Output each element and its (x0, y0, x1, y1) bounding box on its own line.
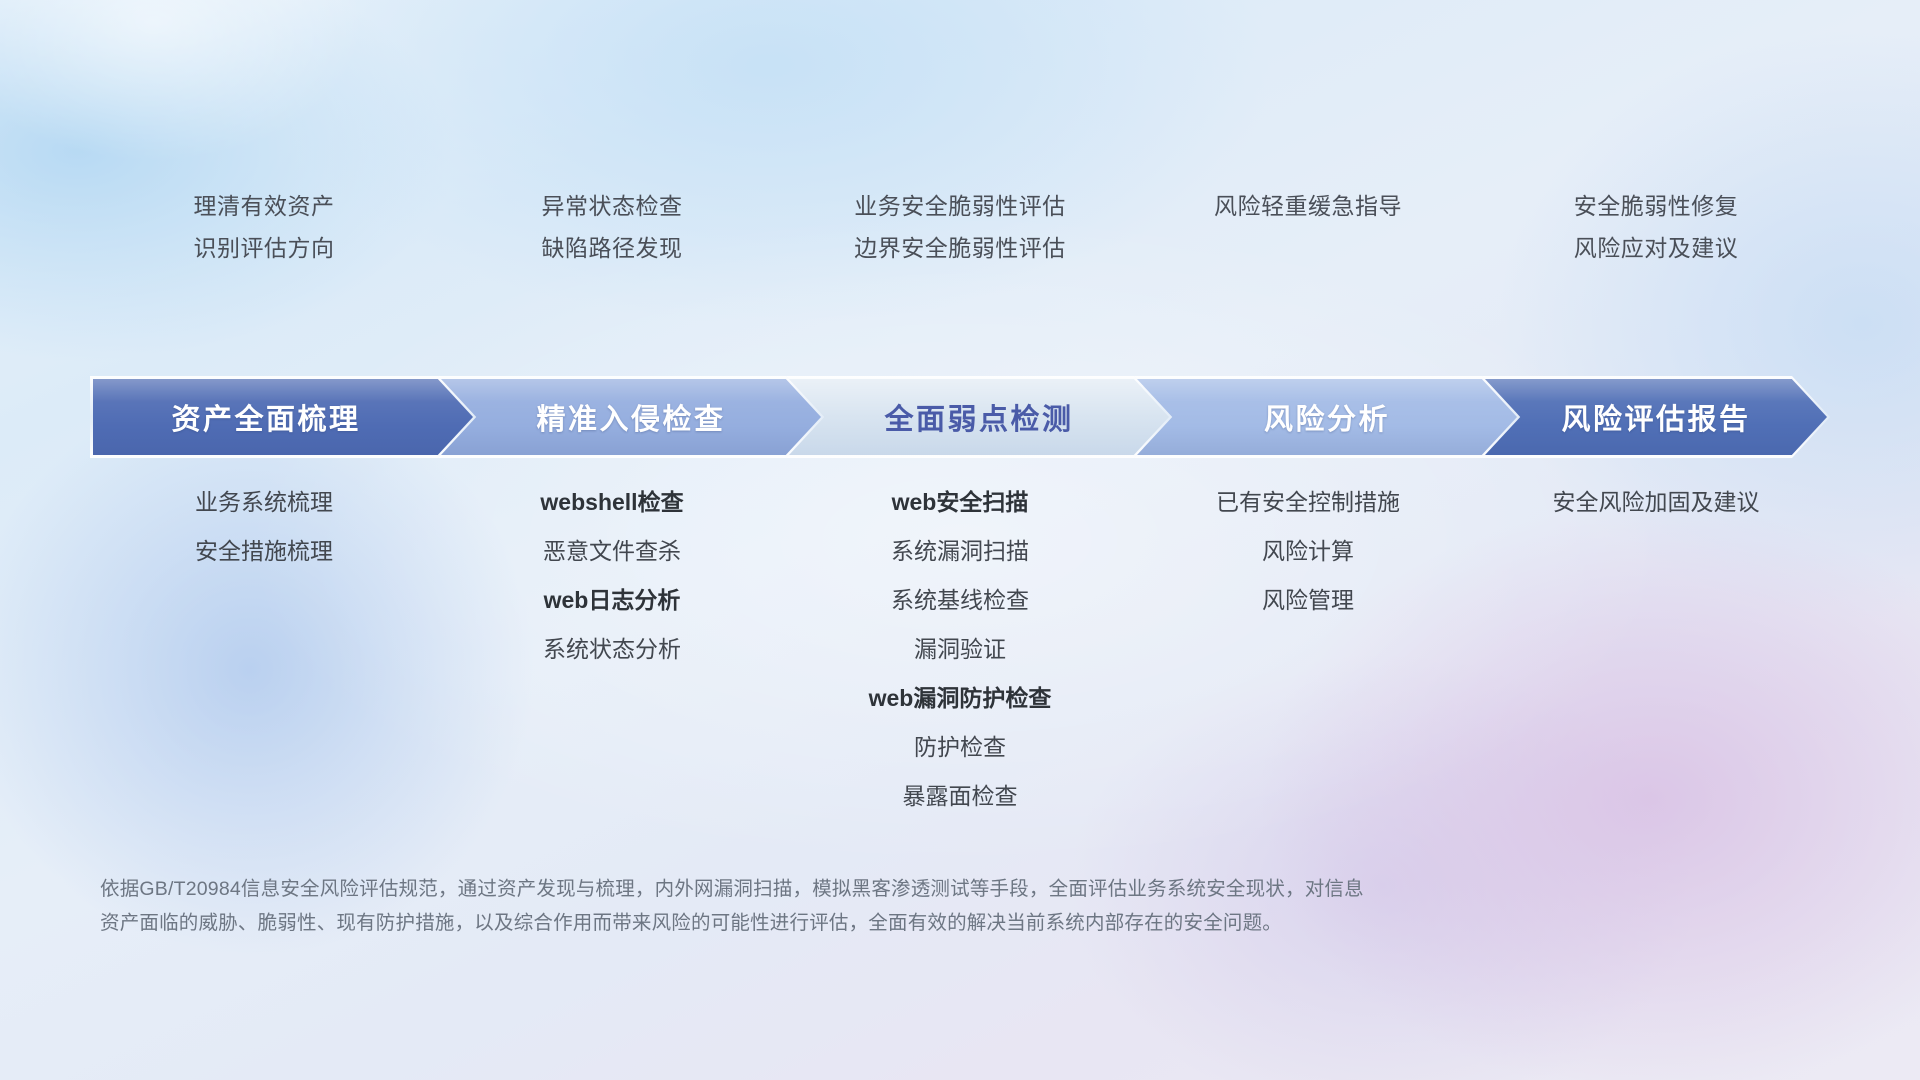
bottom-item: 业务系统梳理 (90, 478, 438, 527)
bottom-item: web漏洞防护检查 (786, 674, 1134, 723)
bottom-item: 安全措施梳理 (90, 527, 438, 576)
process-diagram: 理清有效资产识别评估方向异常状态检查缺陷路径发现业务安全脆弱性评估边界安全脆弱性… (0, 0, 1920, 1080)
bottom-items-weakness-detection: web安全扫描系统漏洞扫描系统基线检查漏洞验证web漏洞防护检查防护检查暴露面检… (786, 478, 1134, 821)
stage-arrow-band: 资产全面梳理精准入侵检查全面弱点检测风险分析风险评估报告 (90, 376, 1830, 458)
top-note: 缺陷路径发现 (438, 227, 786, 269)
top-note: 安全脆弱性修复 (1482, 185, 1830, 227)
stage-arrow-intrusion-check[interactable]: 精准入侵检查 (438, 376, 824, 458)
stage-label: 风险分析 (1264, 396, 1390, 438)
footer-line-2: 资产面临的威胁、脆弱性、现有防护措施，以及综合作用而带来风险的可能性进行评估，全… (100, 906, 1620, 940)
bottom-item: 风险管理 (1134, 576, 1482, 625)
footer-description: 依据GB/T20984信息安全风险评估规范，通过资产发现与梳理，内外网漏洞扫描，… (100, 872, 1620, 940)
stage-label: 资产全面梳理 (171, 396, 360, 438)
bottom-item: 防护检查 (786, 723, 1134, 772)
bottom-item: 系统漏洞扫描 (786, 527, 1134, 576)
top-note: 异常状态检查 (438, 185, 786, 227)
bottom-items-risk-analysis: 已有安全控制措施风险计算风险管理 (1134, 478, 1482, 625)
bottom-items-asset-inventory: 业务系统梳理安全措施梳理 (90, 478, 438, 576)
top-notes-row: 理清有效资产识别评估方向异常状态检查缺陷路径发现业务安全脆弱性评估边界安全脆弱性… (0, 185, 1920, 295)
bottom-item: 暴露面检查 (786, 772, 1134, 821)
bottom-items-risk-report: 安全风险加固及建议 (1482, 478, 1830, 527)
stage-label: 风险评估报告 (1561, 396, 1750, 438)
stage-arrow-asset-inventory[interactable]: 资产全面梳理 (90, 376, 476, 458)
footer-line-1: 依据GB/T20984信息安全风险评估规范，通过资产发现与梳理，内外网漏洞扫描，… (100, 872, 1620, 906)
bottom-item: 系统状态分析 (438, 625, 786, 674)
bottom-item: web日志分析 (438, 576, 786, 625)
bottom-item: 安全风险加固及建议 (1482, 478, 1830, 527)
top-note: 风险应对及建议 (1482, 227, 1830, 269)
bottom-item: web安全扫描 (786, 478, 1134, 527)
bottom-item: webshell检查 (438, 478, 786, 527)
stage-label: 精准入侵检查 (536, 396, 725, 438)
top-note: 风险轻重缓急指导 (1134, 185, 1482, 227)
bottom-items-intrusion-check: webshell检查恶意文件查杀web日志分析系统状态分析 (438, 478, 786, 674)
bottom-item: 系统基线检查 (786, 576, 1134, 625)
bottom-item: 恶意文件查杀 (438, 527, 786, 576)
top-note: 业务安全脆弱性评估 (786, 185, 1134, 227)
stage-arrow-weakness-detection[interactable]: 全面弱点检测 (786, 376, 1172, 458)
bottom-item: 漏洞验证 (786, 625, 1134, 674)
top-notes-risk-analysis: 风险轻重缓急指导 (1134, 185, 1482, 227)
stage-label: 全面弱点检测 (884, 396, 1073, 438)
stage-arrow-risk-report[interactable]: 风险评估报告 (1482, 376, 1830, 458)
bottom-item: 风险计算 (1134, 527, 1482, 576)
top-note: 识别评估方向 (90, 227, 438, 269)
top-note: 理清有效资产 (90, 185, 438, 227)
top-notes-asset-inventory: 理清有效资产识别评估方向 (90, 185, 438, 269)
top-note: 边界安全脆弱性评估 (786, 227, 1134, 269)
top-notes-risk-report: 安全脆弱性修复风险应对及建议 (1482, 185, 1830, 269)
bottom-item: 已有安全控制措施 (1134, 478, 1482, 527)
top-notes-intrusion-check: 异常状态检查缺陷路径发现 (438, 185, 786, 269)
top-notes-weakness-detection: 业务安全脆弱性评估边界安全脆弱性评估 (786, 185, 1134, 269)
stage-arrow-risk-analysis[interactable]: 风险分析 (1134, 376, 1520, 458)
